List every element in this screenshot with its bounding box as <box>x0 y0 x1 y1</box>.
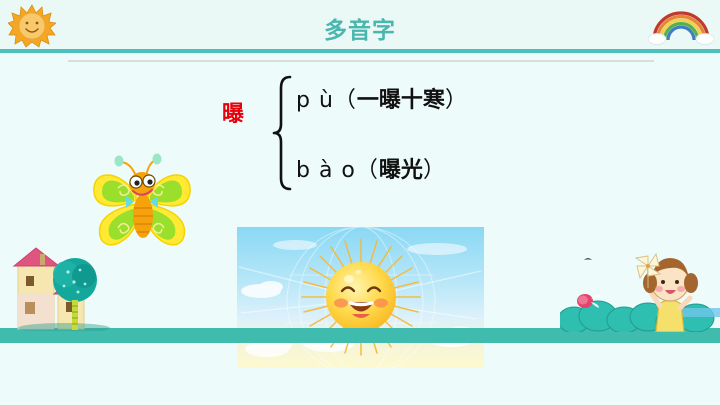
pink-butterfly <box>575 290 601 310</box>
example-word: 一曝十寒 <box>357 88 445 113</box>
slide-content: 曝 p ù（一曝十寒） b à o（曝光） <box>0 62 720 405</box>
open-paren: （ <box>334 88 357 113</box>
open-paren: （ <box>356 158 379 183</box>
girl-with-pinwheel <box>560 238 720 332</box>
pronunciation-row: b à o（曝光） <box>296 152 446 184</box>
smiling-sun-sky-photo <box>237 227 484 368</box>
pinyin-text: b à o <box>296 158 356 183</box>
curly-brace-icon <box>270 74 296 192</box>
close-paren: ） <box>423 158 446 183</box>
teal-tree <box>52 252 98 332</box>
close-paren: ） <box>445 88 468 113</box>
header-divider <box>0 49 720 53</box>
slide-header: 多音字 <box>0 0 720 50</box>
pronunciation-row: p ù（一曝十寒） <box>296 82 468 114</box>
polyphone-character: 曝 <box>222 104 258 126</box>
pinyin-text: p ù <box>296 88 334 113</box>
rainbow-icon <box>648 6 714 46</box>
slide-canvas: 多音字 曝 p ù（一曝十寒 <box>0 0 720 405</box>
example-word: 曝光 <box>379 158 423 183</box>
page-title: 多音字 <box>0 11 720 45</box>
